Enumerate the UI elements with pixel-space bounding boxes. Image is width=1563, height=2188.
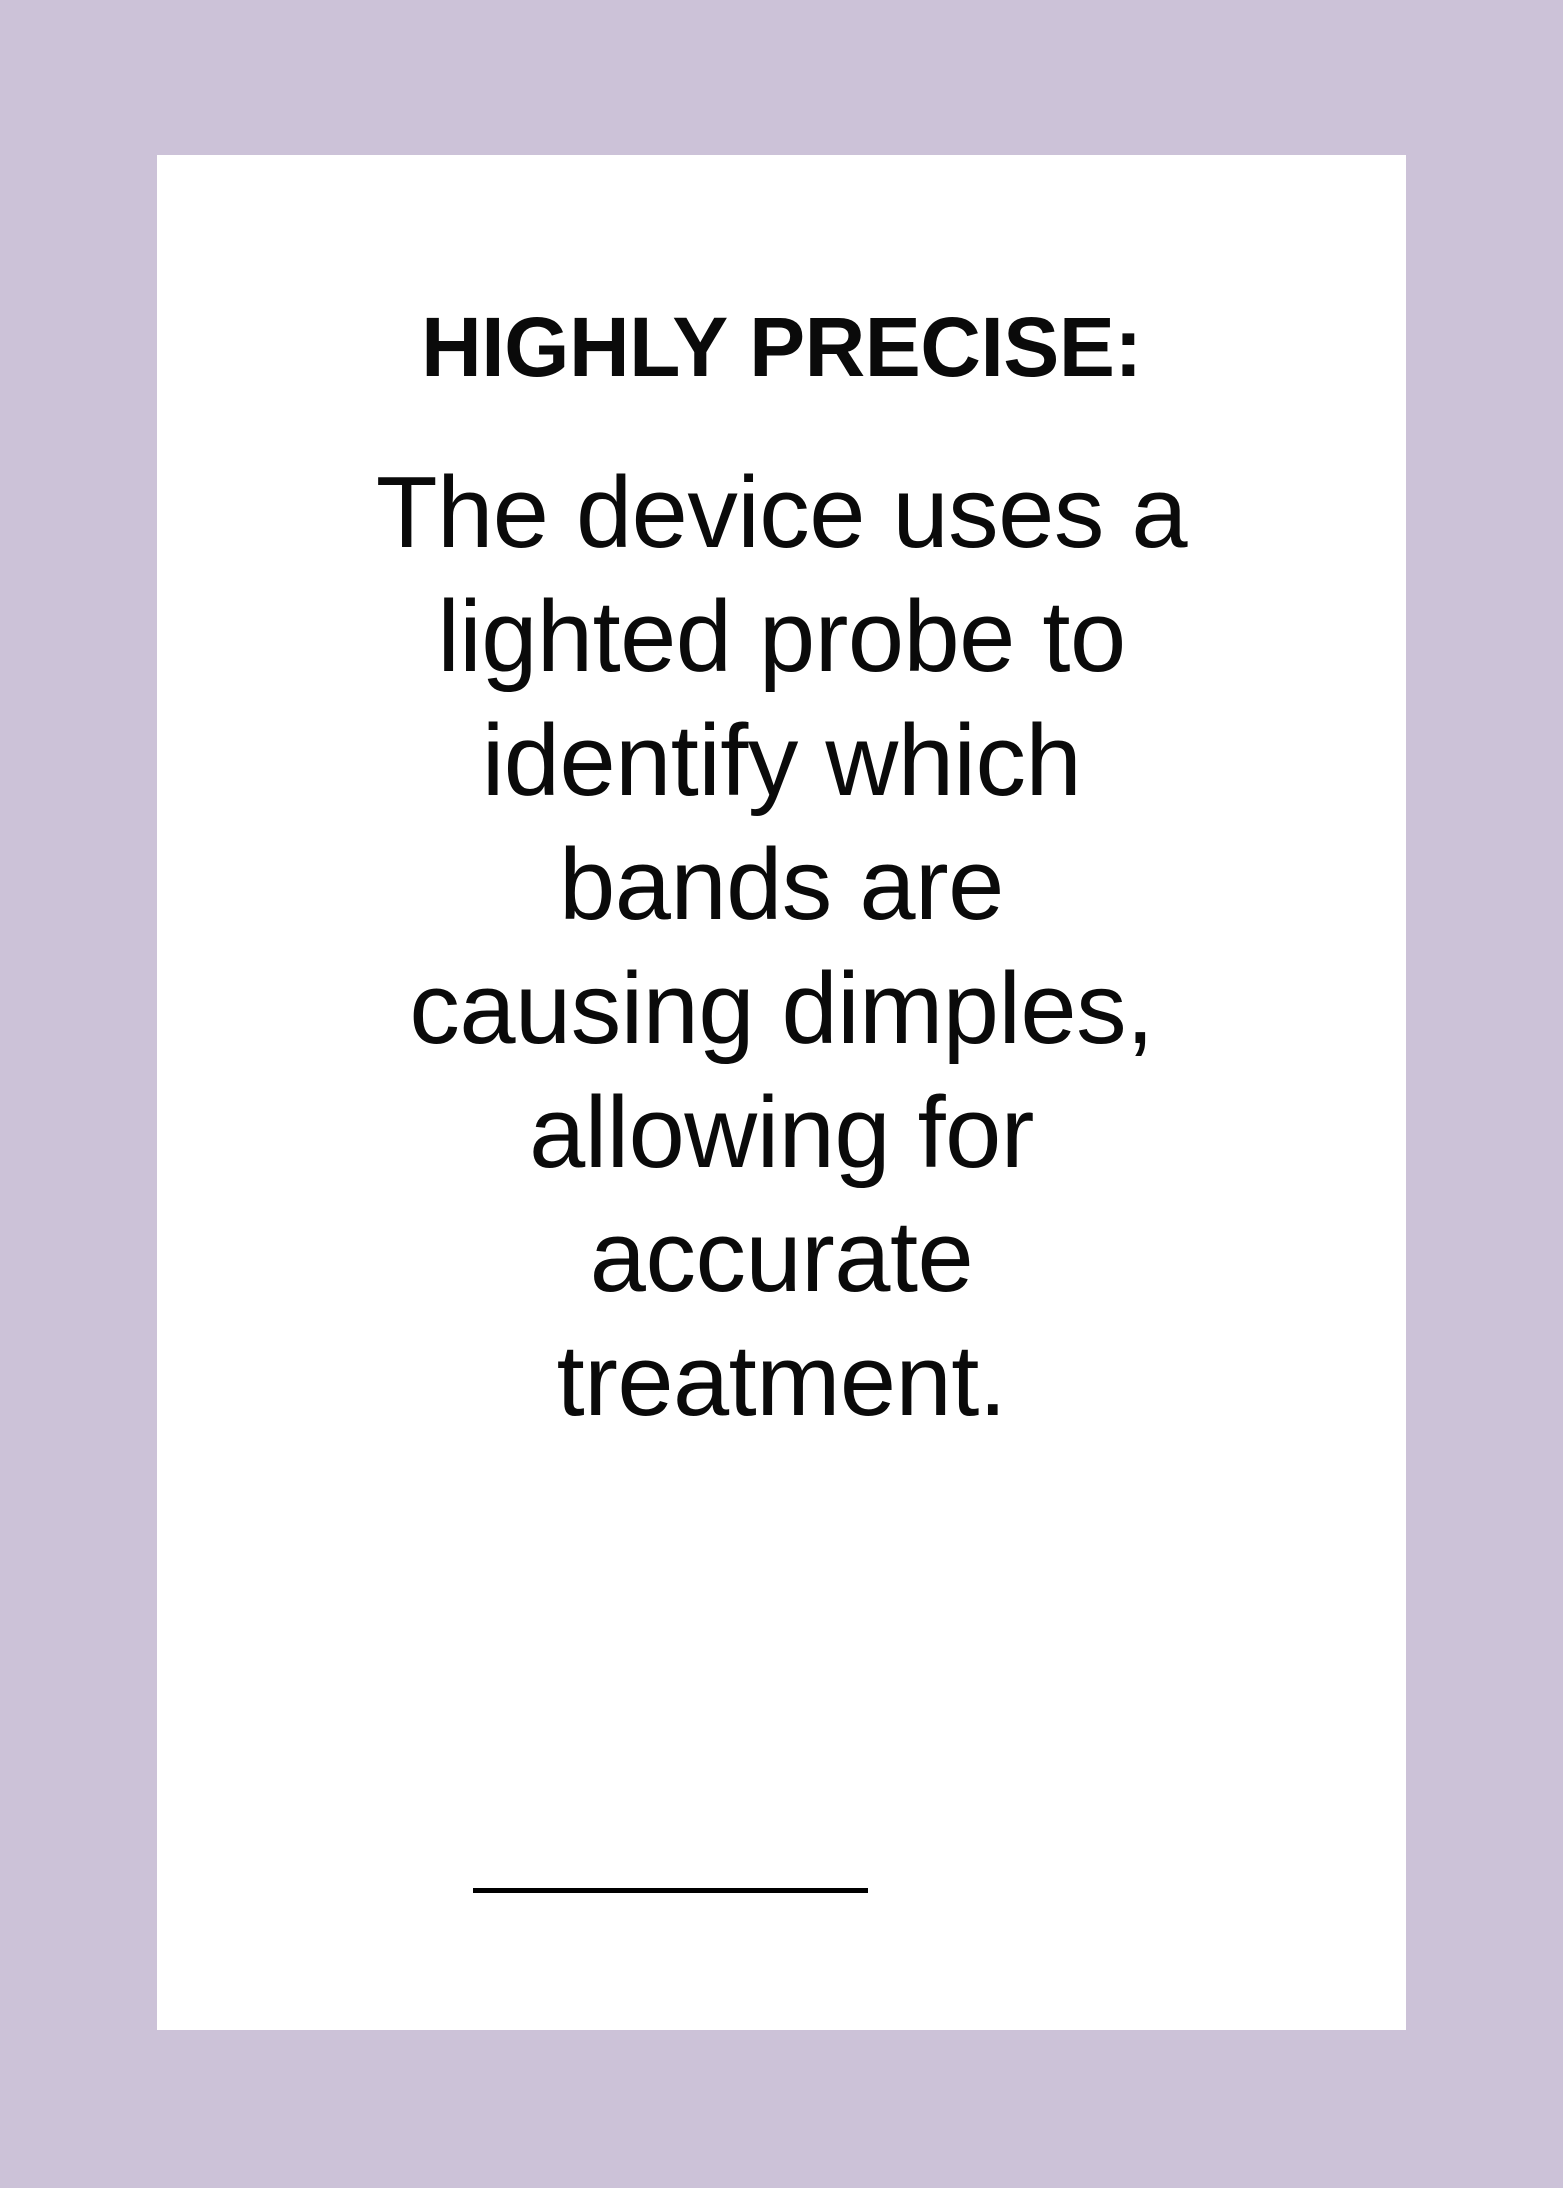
body-line: The device uses a	[157, 451, 1406, 575]
body-line: causing dimples,	[157, 947, 1406, 1071]
body-line: lighted probe to	[157, 575, 1406, 699]
page-canvas: HIGHLY PRECISE: The device uses a lighte…	[0, 0, 1563, 2188]
body-line: bands are	[157, 823, 1406, 947]
info-card: HIGHLY PRECISE: The device uses a lighte…	[157, 155, 1406, 2030]
body-line: accurate	[157, 1195, 1406, 1319]
body-line: allowing for	[157, 1071, 1406, 1195]
card-heading: HIGHLY PRECISE:	[157, 155, 1406, 391]
body-line: identify which	[157, 699, 1406, 823]
card-body-text: The device uses a lighted probe to ident…	[157, 391, 1406, 1443]
divider-rule	[473, 1888, 868, 1893]
body-line: treatment.	[157, 1319, 1406, 1443]
